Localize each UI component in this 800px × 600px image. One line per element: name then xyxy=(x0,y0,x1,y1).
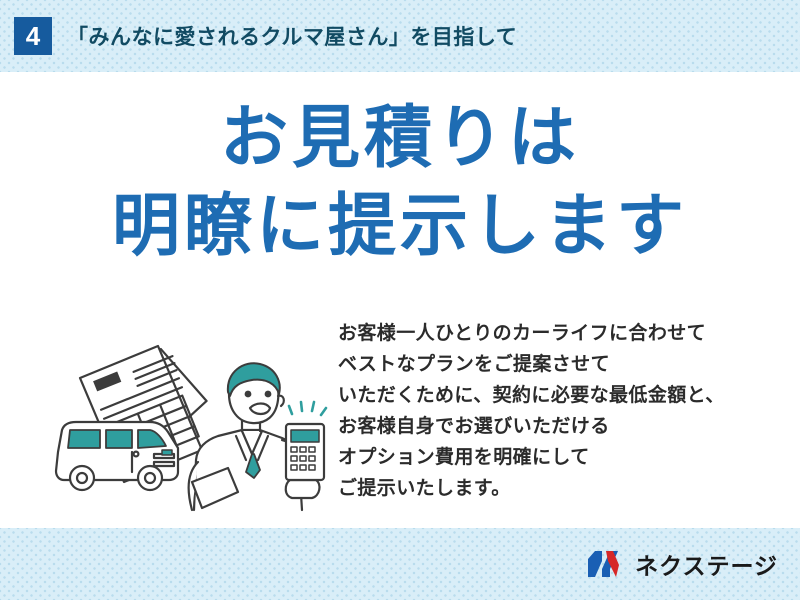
description-line: ご提示いたします。 xyxy=(338,473,768,504)
sparkle-icon xyxy=(289,402,326,415)
description-line: ベストなプランをご提案させて xyxy=(338,349,768,380)
description-text: お客様一人ひとりのカーライフに合わせて ベストなプランをご提案させて いただくた… xyxy=(338,318,768,504)
description-line: お客様自身でお選びいただける xyxy=(338,411,768,442)
headline-line-1: お見積りは xyxy=(0,104,800,172)
nextage-n-logo-icon xyxy=(586,549,626,579)
description-line: いただくために、契約に必要な最低金額と、 xyxy=(338,380,768,411)
header-title: 「みんなに愛されるクルマ屋さん」を目指して xyxy=(67,21,517,51)
page-title: お見積りは 明瞭に提示します xyxy=(0,104,800,260)
promo-slide: 4 「みんなに愛されるクルマ屋さん」を目指して お見積りは 明瞭に提示します xyxy=(0,0,800,600)
brand-logo: ネクステージ xyxy=(586,528,778,600)
content-row: お客様一人ひとりのカーライフに合わせて ベストなプランをご提案させて いただくた… xyxy=(0,318,800,518)
van-illustration xyxy=(56,422,178,490)
illustration-salesman-quote-van xyxy=(46,332,336,512)
calculator-icon xyxy=(286,424,324,480)
header: 4 「みんなに愛されるクルマ屋さん」を目指して xyxy=(0,0,800,72)
brand-name: ネクステージ xyxy=(635,547,778,581)
description-line: お客様一人ひとりのカーライフに合わせて xyxy=(338,318,768,349)
headline-line-2: 明瞭に提示します xyxy=(0,192,800,260)
description-line: オプション費用を明確にして xyxy=(338,442,768,473)
step-number-badge: 4 xyxy=(14,17,52,55)
